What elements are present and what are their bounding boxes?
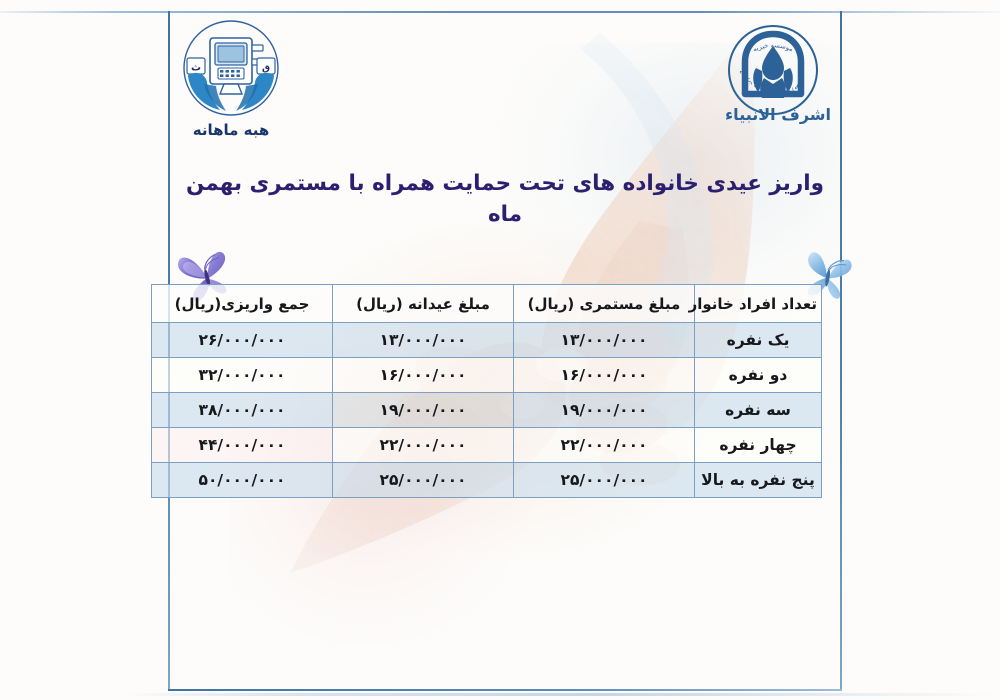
frame-top-rule (0, 11, 1000, 13)
cell-total-deposit: ۲۶/۰۰۰/۰۰۰ (152, 323, 333, 358)
monthly-donation-caption: هبه ماهانه (176, 121, 286, 139)
cell-household-size: چهار نفره (695, 428, 822, 463)
cell-pension-amount: ۲۵/۰۰۰/۰۰۰ (514, 463, 695, 498)
column-header-household-size: تعداد افراد خانوار (695, 285, 822, 323)
table-row: یک نفره ۱۳/۰۰۰/۰۰۰ ۱۳/۰۰۰/۰۰۰ ۲۶/۰۰۰/۰۰۰ (152, 323, 822, 358)
table-row: سه نفره ۱۹/۰۰۰/۰۰۰ ۱۹/۰۰۰/۰۰۰ ۳۸/۰۰۰/۰۰۰ (152, 393, 822, 428)
frame-bottom-shadow (120, 693, 1000, 696)
cell-pension-amount: ۱۳/۰۰۰/۰۰۰ (514, 323, 695, 358)
frame-bottom-rule (168, 689, 842, 691)
cell-eidaneh-amount: ۱۶/۰۰۰/۰۰۰ (333, 358, 514, 393)
cell-total-deposit: ۳۸/۰۰۰/۰۰۰ (152, 393, 333, 428)
table-row: دو نفره ۱۶/۰۰۰/۰۰۰ ۱۶/۰۰۰/۰۰۰ ۳۲/۰۰۰/۰۰۰ (152, 358, 822, 393)
cell-eidaneh-amount: ۱۹/۰۰۰/۰۰۰ (333, 393, 514, 428)
table-row: پنج نفره به بالا ۲۵/۰۰۰/۰۰۰ ۲۵/۰۰۰/۰۰۰ ۵… (152, 463, 822, 498)
cell-household-size: سه نفره (695, 393, 822, 428)
svg-text:ق: ق (262, 64, 270, 74)
cell-household-size: دو نفره (695, 358, 822, 393)
cell-pension-amount: ۲۲/۰۰۰/۰۰۰ (514, 428, 695, 463)
cell-eidaneh-amount: ۲۲/۰۰۰/۰۰۰ (333, 428, 514, 463)
charity-droplet-in-hands-seal-icon: موسسه خیریه حضرت محمد مصطفی (ص) اشرف الا… (712, 8, 834, 140)
cell-household-size: پنج نفره به بالا (695, 463, 822, 498)
column-header-total-deposit: جمع واریزی(ریال) (152, 285, 333, 323)
column-header-eidaneh-amount: مبلغ عیدانه (ریال) (333, 285, 514, 323)
cell-pension-amount: ۱۶/۰۰۰/۰۰۰ (514, 358, 695, 393)
payout-table-container: تعداد افراد خانوار مبلغ مستمری (ریال) مب… (188, 284, 822, 498)
charity-seal-logo: موسسه خیریه حضرت محمد مصطفی (ص) اشرف الا… (712, 8, 834, 140)
frame-right-rule (840, 11, 842, 691)
cell-household-size: یک نفره (695, 323, 822, 358)
infographic-canvas: ث ق هبه ماهانه (0, 0, 1000, 700)
payout-table: تعداد افراد خانوار مبلغ مستمری (ریال) مب… (151, 284, 822, 498)
atm-with-cupping-hands-icon: ث ق (176, 18, 286, 122)
column-header-pension-amount: مبلغ مستمری (ریال) (514, 285, 695, 323)
table-row: چهار نفره ۲۲/۰۰۰/۰۰۰ ۲۲/۰۰۰/۰۰۰ ۴۴/۰۰۰/۰… (152, 428, 822, 463)
monthly-donation-logo: ث ق هبه ماهانه (176, 18, 286, 140)
table-header-row: تعداد افراد خانوار مبلغ مستمری (ریال) مب… (152, 285, 822, 323)
cell-total-deposit: ۴۴/۰۰۰/۰۰۰ (152, 428, 333, 463)
cell-pension-amount: ۱۹/۰۰۰/۰۰۰ (514, 393, 695, 428)
cell-eidaneh-amount: ۱۳/۰۰۰/۰۰۰ (333, 323, 514, 358)
seal-name-text: اشرف الانبیاء (725, 105, 831, 124)
svg-text:ث: ث (191, 63, 201, 74)
cell-total-deposit: ۳۲/۰۰۰/۰۰۰ (152, 358, 333, 393)
cell-eidaneh-amount: ۲۵/۰۰۰/۰۰۰ (333, 463, 514, 498)
cell-total-deposit: ۵۰/۰۰۰/۰۰۰ (152, 463, 333, 498)
page-title: واریز عیدی خانواده های تحت حمایت همراه ب… (180, 168, 830, 230)
